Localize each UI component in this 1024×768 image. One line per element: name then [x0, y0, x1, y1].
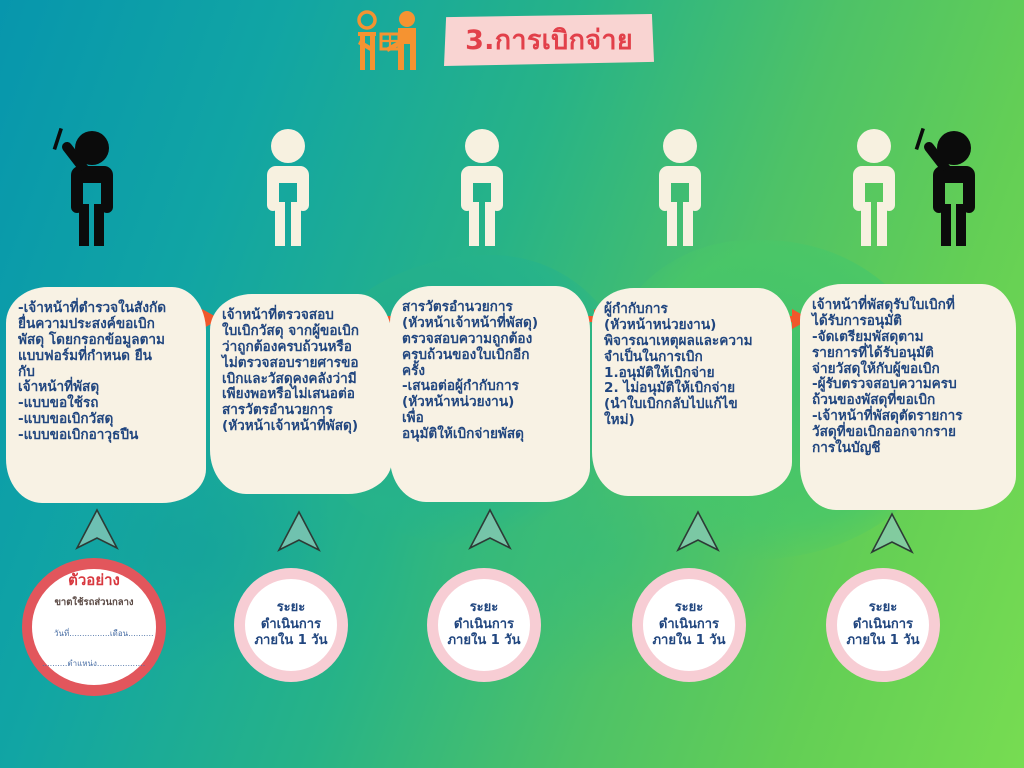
- duration-circle-2-inner: ระยะ ดำเนินการ ภายใน 1 วัน: [245, 579, 337, 671]
- people-row: ผู้ยื่นขอเบิก จนท.พัสดุ สารวัตรอำนวยการ: [0, 120, 1024, 275]
- duration-text-5: ระยะ ดำเนินการ ภายใน 1 วัน: [846, 600, 919, 650]
- triangle-pointer-icon-5: [870, 512, 914, 554]
- info-card-2: เจ้าหน้าที่ตรวจสอบ ใบเบิกวัสดุ จากผู้ขอเ…: [210, 294, 392, 494]
- info-card-1-body: -เจ้าหน้าที่ตำรวจในสังกัด ยื่นความประสงค…: [18, 301, 194, 444]
- info-card-4: ผู้กำกับการ (หัวหน้าหน่วยงาน) พิจารณาเหต…: [592, 288, 792, 496]
- duration-text-3: ระยะ ดำเนินการ ภายใน 1 วัน: [447, 600, 520, 650]
- triangle-pointer-icon-3: [468, 508, 512, 550]
- sample-stamp: ขาตใช้รถส่วนกลาง วันที่................เ…: [22, 558, 166, 696]
- duration-circle-4-inner: ระยะ ดำเนินการ ภายใน 1 วัน: [643, 579, 735, 671]
- duration-circle-3-inner: ระยะ ดำเนินการ ภายใน 1 วัน: [438, 579, 530, 671]
- info-card-3: สารวัตรอำนวยการ (หัวหน้าเจ้าหน้าที่พัสดุ…: [390, 286, 590, 502]
- info-card-2-body: เจ้าหน้าที่ตรวจสอบ ใบเบิกวัสดุ จากผู้ขอเ…: [222, 308, 380, 435]
- duration-text-2: ระยะ ดำเนินการ ภายใน 1 วัน: [254, 600, 327, 650]
- info-card-3-body: สารวัตรอำนวยการ (หัวหน้าเจ้าหน้าที่พัสดุ…: [402, 300, 578, 443]
- person-white-icon: [632, 120, 728, 250]
- person-black-pointing-icon: [904, 120, 1000, 250]
- triangle-pointer-icon-1: [75, 508, 119, 550]
- info-card-1: -เจ้าหน้าที่ตำรวจในสังกัด ยื่นความประสงค…: [6, 287, 206, 503]
- person-white-icon: [240, 120, 336, 250]
- stamp-word: ตัวอย่าง: [22, 568, 166, 592]
- info-card-5: เจ้าหน้าที่พัสดุรับใบเบิกที่ ได้รับการอน…: [800, 284, 1016, 510]
- triangle-pointer-icon-2: [277, 510, 321, 552]
- header: 3.การเบิกจ่าย: [0, 0, 1024, 86]
- duration-text-4: ระยะ ดำเนินการ ภายใน 1 วัน: [652, 600, 725, 650]
- page-title: 3.การเบิกจ่าย: [465, 27, 633, 54]
- info-card-4-body: ผู้กำกับการ (หัวหน้าหน่วยงาน) พิจารณาเหต…: [604, 302, 780, 429]
- person-black-pointing-icon: [42, 120, 138, 250]
- duration-circle-2: ระยะ ดำเนินการ ภายใน 1 วัน: [234, 568, 348, 682]
- duration-circle-5: ระยะ ดำเนินการ ภายใน 1 วัน: [826, 568, 940, 682]
- duration-circle-4: ระยะ ดำเนินการ ภายใน 1 วัน: [632, 568, 746, 682]
- delivery-person-icon: [348, 6, 428, 76]
- person-white-icon: [434, 120, 530, 250]
- duration-circle-5-inner: ระยะ ดำเนินการ ภายใน 1 วัน: [837, 579, 929, 671]
- info-card-5-body: เจ้าหน้าที่พัสดุรับใบเบิกที่ ได้รับการอน…: [812, 298, 1004, 457]
- stamp-line-1: วันที่................เดือน..........: [54, 627, 154, 640]
- stamp-line-2: ..........ตำแหน่ง...................: [42, 657, 145, 670]
- stamp-subtitle: ขาตใช้รถส่วนกลาง: [32, 595, 156, 610]
- duration-circle-3: ระยะ ดำเนินการ ภายใน 1 วัน: [427, 568, 541, 682]
- triangle-pointer-icon-4: [676, 510, 720, 552]
- title-banner: 3.การเบิกจ่าย: [444, 14, 654, 66]
